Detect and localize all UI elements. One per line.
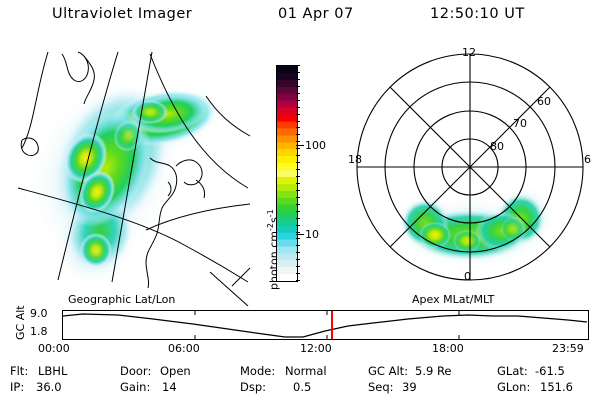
left-panel-caption: Geographic Lat/Lon xyxy=(68,293,175,306)
status-mode-key: Mode: xyxy=(240,364,275,378)
status-dsp-key: Dsp: xyxy=(240,380,266,394)
colorbar-exponent-1: -2 xyxy=(266,223,275,231)
status-door-key: Door: xyxy=(120,364,151,378)
orbit-altitude-strip xyxy=(62,310,589,340)
time-tick-1800: 18:00 xyxy=(432,342,464,355)
mlt-label-12: 12 xyxy=(462,46,476,59)
mlt-label-18: 18 xyxy=(348,153,362,166)
mlt-label-0: 0 xyxy=(464,270,471,283)
status-gcalt-key: GC Alt: xyxy=(368,364,408,378)
mlat-label-80: 80 xyxy=(490,140,504,153)
polar-grid xyxy=(357,54,583,280)
time-tick-1200: 12:00 xyxy=(300,342,332,355)
colorbar-gradient xyxy=(276,65,298,282)
polar-plot-panel: 12 18 6 0 60 70 80 xyxy=(345,45,595,295)
time-tick-2359: 23:59 xyxy=(552,342,584,355)
colorbar-tick-label-100: 100 xyxy=(305,139,326,152)
mlt-label-6: 6 xyxy=(584,153,591,166)
time-tick-0000: 00:00 xyxy=(38,342,70,355)
status-glon-key: GLon: xyxy=(497,380,530,394)
current-time-marker xyxy=(331,311,333,339)
orbit-y-tick-top: 9.0 xyxy=(30,307,48,320)
status-ip-value: 36.0 xyxy=(36,380,62,394)
status-ip-key: IP: xyxy=(10,380,24,394)
observation-date: 01 Apr 07 xyxy=(278,6,354,22)
geographic-projection-svg xyxy=(0,40,250,290)
status-glat-value: -61.5 xyxy=(535,364,565,378)
status-seq-value: 39 xyxy=(402,380,417,394)
orbit-y-tick-bottom: 1.8 xyxy=(30,325,48,338)
time-tick-0600: 06:00 xyxy=(168,342,200,355)
apex-polar-svg xyxy=(345,45,595,295)
uvi-screenshot: Ultraviolet Imager 01 Apr 07 12:50:10 UT xyxy=(0,0,600,400)
mlat-label-70: 70 xyxy=(513,117,527,130)
altitude-curve xyxy=(63,314,587,337)
aurora-emission-polar xyxy=(397,185,555,269)
colorbar-tick-label-10: 10 xyxy=(305,228,319,241)
status-seq-key: Seq: xyxy=(368,380,394,394)
observation-time: 12:50:10 UT xyxy=(430,6,525,22)
orbit-y-axis-label: GC Alt xyxy=(14,305,27,340)
status-flt-key: Flt: xyxy=(10,364,28,378)
status-door-value: Open xyxy=(160,364,191,378)
mlat-label-60: 60 xyxy=(537,95,551,108)
page-title: Ultraviolet Imager xyxy=(52,6,192,22)
status-glat-key: GLat: xyxy=(497,364,528,378)
colorbar-exponent-2: -1 xyxy=(266,209,275,217)
orbit-altitude-trace-svg xyxy=(63,311,588,339)
right-panel-caption: Apex MLat/MLT xyxy=(412,293,494,306)
status-gcalt-value: 5.9 Re xyxy=(415,364,452,378)
geographic-image-panel xyxy=(0,40,250,290)
status-gain-value: 14 xyxy=(162,380,177,394)
colorbar-ticks xyxy=(296,60,300,290)
status-mode-value: Normal xyxy=(285,364,327,378)
status-gain-key: Gain: xyxy=(120,380,150,394)
status-flt-value: LBHL xyxy=(38,364,67,378)
status-dsp-value: 0.5 xyxy=(293,380,311,394)
status-glon-value: 151.6 xyxy=(540,380,573,394)
colorbar-panel: photon cm-2s-1 100 10 xyxy=(254,60,300,290)
